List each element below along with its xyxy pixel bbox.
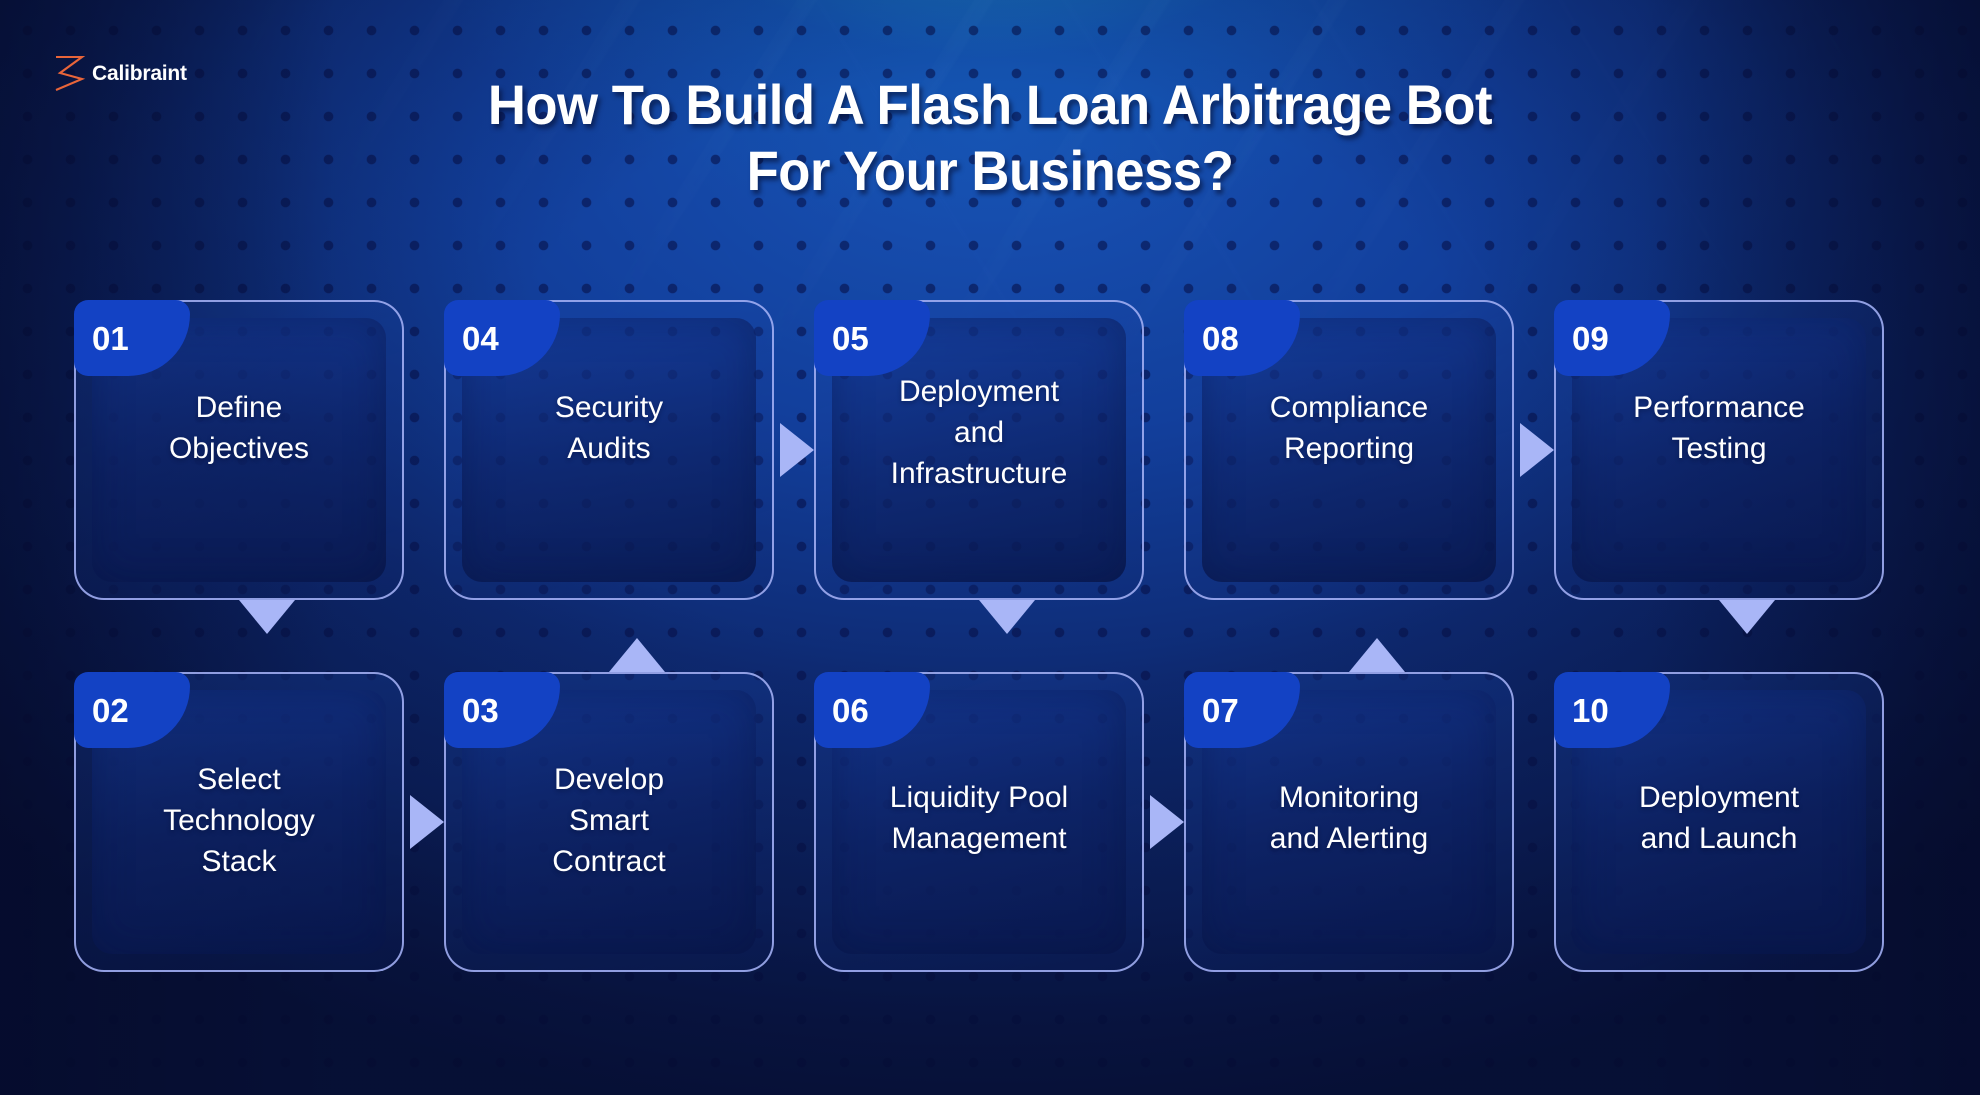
step-card-01[interactable]: 01DefineObjectives: [74, 300, 404, 600]
arrow-06-to-07-icon: [1150, 795, 1184, 849]
step-card-09[interactable]: 09PerformanceTesting: [1554, 300, 1884, 600]
step-label-05: DeploymentandInfrastructure: [830, 372, 1128, 494]
step-number-text: 05: [832, 322, 869, 355]
arrow-09-to-10-icon: [1719, 600, 1775, 634]
steps-grid: 01DefineObjectives04SecurityAudits05Depl…: [0, 0, 1980, 1095]
step-number-text: 06: [832, 694, 869, 727]
step-label-10: Deploymentand Launch: [1570, 778, 1868, 860]
arrow-01-to-02-icon: [239, 600, 295, 634]
step-card-05[interactable]: 05DeploymentandInfrastructure: [814, 300, 1144, 600]
step-number-text: 01: [92, 322, 129, 355]
step-card-06[interactable]: 06Liquidity PoolManagement: [814, 672, 1144, 972]
step-card-02[interactable]: 02SelectTechnologyStack: [74, 672, 404, 972]
arrow-08-to-09-icon: [1520, 423, 1554, 477]
step-label-09: PerformanceTesting: [1570, 388, 1868, 470]
arrow-04-to-05-icon: [780, 423, 814, 477]
arrow-07-to-08-icon: [1349, 638, 1405, 672]
arrow-02-to-03-icon: [410, 795, 444, 849]
step-label-04: SecurityAudits: [460, 388, 758, 470]
step-card-10[interactable]: 10Deploymentand Launch: [1554, 672, 1884, 972]
step-number-text: 08: [1202, 322, 1239, 355]
step-number-text: 10: [1572, 694, 1609, 727]
step-number-text: 02: [92, 694, 129, 727]
step-number-text: 04: [462, 322, 499, 355]
step-number-text: 09: [1572, 322, 1609, 355]
step-number-text: 03: [462, 694, 499, 727]
step-card-07[interactable]: 07Monitoringand Alerting: [1184, 672, 1514, 972]
step-label-02: SelectTechnologyStack: [90, 760, 388, 882]
step-label-08: ComplianceReporting: [1200, 388, 1498, 470]
step-card-08[interactable]: 08ComplianceReporting: [1184, 300, 1514, 600]
step-label-06: Liquidity PoolManagement: [830, 778, 1128, 860]
infographic-canvas: Calibraint How To Build A Flash Loan Arb…: [0, 0, 1980, 1095]
step-card-04[interactable]: 04SecurityAudits: [444, 300, 774, 600]
step-label-01: DefineObjectives: [90, 388, 388, 470]
step-card-03[interactable]: 03DevelopSmartContract: [444, 672, 774, 972]
arrow-03-to-04-icon: [609, 638, 665, 672]
arrow-05-to-06-icon: [979, 600, 1035, 634]
step-label-03: DevelopSmartContract: [460, 760, 758, 882]
step-number-text: 07: [1202, 694, 1239, 727]
step-label-07: Monitoringand Alerting: [1200, 778, 1498, 860]
